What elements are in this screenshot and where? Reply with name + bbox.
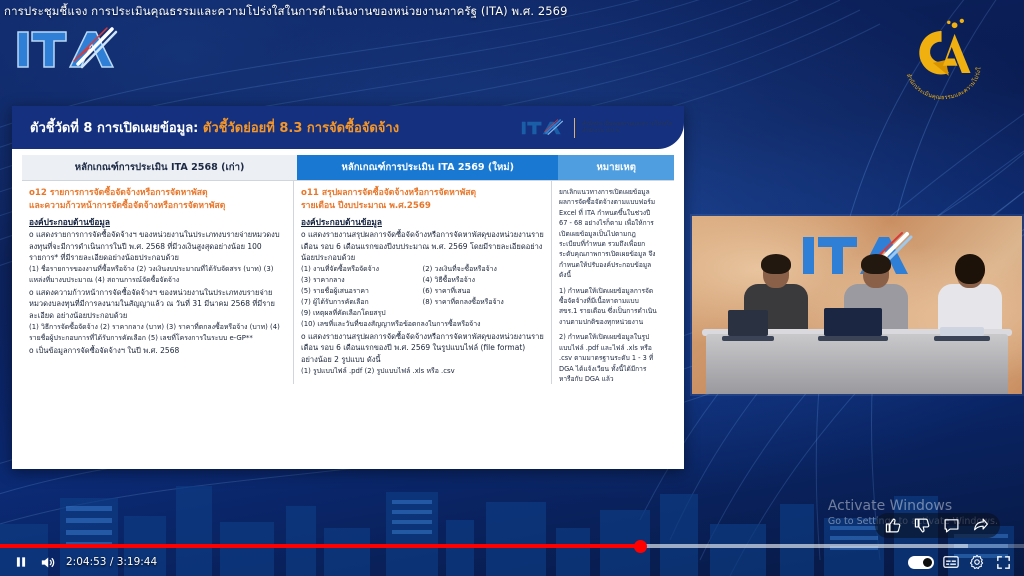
qa-seal-logo: สำนักประเมินคุณธรรมและความโปร่งใส <box>884 18 1002 102</box>
new-file-formats: (1) รูปแบบไฟล์ .pdf (2) รูปแบบไฟล์ .xls … <box>301 366 544 377</box>
list-item: (4) วิธีซื้อหรือจ้าง <box>423 275 545 286</box>
hair <box>955 254 985 284</box>
ita-logo-small <box>521 118 567 138</box>
new-items-left: (1) งานที่จัดซื้อหรือจัดจ้าง (3) ราคากลา… <box>301 264 423 308</box>
video-title: การประชุมชี้แจง การประเมินคุณธรรมและความ… <box>0 5 568 18</box>
volume-on-icon <box>39 554 56 571</box>
logo-subtitle-line1: สำนักประเมินคุณธรรมและความโปร่งใส <box>582 121 672 129</box>
slide-header-text: ตัวชี้วัดที่ 8 การเปิดเผยข้อมูล: ตัวชี้ว… <box>12 117 399 138</box>
hair <box>861 254 891 274</box>
subtitles-icon <box>942 553 960 571</box>
panelist-right <box>938 258 1002 332</box>
column-header-note: หมายเหตุ <box>558 155 674 180</box>
picture-in-picture-video[interactable] <box>692 216 1022 394</box>
logo-subtitle-line2: สำนักงาน ป.ป.ช. <box>582 128 672 136</box>
comparison-table-body: o12 รายการการจัดซื้อจัดจ้างหรือการจัดหาพ… <box>22 180 674 384</box>
column-new-criteria: o11 สรุปผลการจัดซื้อจัดจ้างหรือการจัดหาพ… <box>294 181 552 384</box>
settings-button[interactable] <box>964 549 990 575</box>
pause-button[interactable] <box>8 549 34 575</box>
list-item: (9) เหตุผลที่คัดเลือกโดยสรุป <box>301 308 544 319</box>
list-item: (1) งานที่จัดซื้อหรือจัดจ้าง <box>301 264 423 275</box>
notebook <box>940 327 984 336</box>
ita-logo <box>14 24 124 76</box>
list-item: (8) ราคาที่ตกลงซื้อหรือจ้าง <box>423 297 545 308</box>
note-paragraph-1: ยกเลิกแนวทางการเปิดเผยข้อมูลผลการจัดซื้อ… <box>559 187 657 281</box>
old-paragraph-2: o แสดงความก้าวหน้าการจัดซื้อจัดจ้างฯ ของ… <box>29 287 286 322</box>
old-title-line2: และความก้าวหน้าการจัดซื้อจัดจ้างหรือการจ… <box>29 200 286 213</box>
old-paragraph-3: o เป็นข้อมูลการจัดซื้อจัดจ้างฯ ในปี พ.ศ.… <box>29 345 286 357</box>
list-item: (6) ราคาที่เสนอ <box>423 286 545 297</box>
new-paragraph-1: o แสดงรายงานสรุปผลการจัดซื้อจัดจ้างหรือก… <box>301 229 544 264</box>
note-paragraph-2: 1) กำหนดให้เปิดเผยข้อมูลการจัดซื้อจัดจ้า… <box>559 286 657 328</box>
slide-logo-block: สำนักประเมินคุณธรรมและความโปร่งใส สำนักง… <box>521 118 672 138</box>
autoplay-toggle[interactable] <box>904 549 938 575</box>
slide-header-accent: ตัวชี้วัดย่อยที่ 8.3 การจัดซื้อจัดจ้าง <box>203 121 399 136</box>
video-title-bar: การประชุมชี้แจง การประเมินคุณธรรมและความ… <box>0 0 1024 22</box>
fullscreen-button[interactable] <box>990 549 1016 575</box>
new-title-line1: o11 สรุปผลการจัดซื้อจัดจ้างหรือการจัดหาพ… <box>301 187 544 200</box>
list-item: (2) วงเงินที่จะซื้อหรือจ้าง <box>423 264 545 275</box>
old-list-1: (1) ชื่อรายการของงานที่ซื้อหรือจ้าง (2) … <box>29 264 286 286</box>
comparison-table-header: หลักเกณฑ์การประเมิน ITA 2568 (เก่า) หลัก… <box>22 155 674 180</box>
avatar <box>957 258 983 288</box>
thumbs-down-icon[interactable] <box>914 517 931 534</box>
new-items-grid: (1) งานที่จัดซื้อหรือจัดจ้าง (3) ราคากลา… <box>301 264 544 308</box>
new-items-right: (2) วงเงินที่จะซื้อหรือจ้าง (4) วิธีซื้อ… <box>423 264 545 308</box>
new-section-heading: องค์ประกอบด้านข้อมูล <box>301 216 544 228</box>
logo-divider <box>574 118 575 138</box>
player-controls-bar: 2:04:53 / 3:19:44 <box>0 548 1024 576</box>
column-header-old: หลักเกณฑ์การประเมิน ITA 2568 (เก่า) <box>22 155 297 180</box>
torso <box>938 284 1002 332</box>
column-old-criteria: o12 รายการการจัดซื้อจัดจ้างหรือการจัดหาพ… <box>22 181 294 384</box>
old-section-heading: องค์ประกอบด้านข้อมูล <box>29 216 286 228</box>
pause-icon <box>14 555 28 569</box>
old-paragraph-1: o แสดงรายการการจัดซื้อจัดจ้างฯ ของหน่วยง… <box>29 229 286 264</box>
list-item: (5) รายชื่อผู้เสนอราคา <box>301 286 423 297</box>
toggle-knob <box>923 558 932 567</box>
volume-button[interactable] <box>34 549 60 575</box>
column-header-new: หลักเกณฑ์การประเมิน ITA 2569 (ใหม่) <box>297 155 558 180</box>
fullscreen-icon <box>995 554 1012 571</box>
new-item-10: (10) เลขที่และวันที่ของสัญญาหรือข้อตกลงใ… <box>301 319 544 330</box>
thumbs-up-icon[interactable] <box>885 517 902 534</box>
video-player-stage: การประชุมชี้แจง การประเมินคุณธรรมและความ… <box>0 0 1024 576</box>
time-display: 2:04:53 / 3:19:44 <box>66 556 157 568</box>
presentation-slide: ตัวชี้วัดที่ 8 การเปิดเผยข้อมูล: ตัวชี้ว… <box>12 106 684 469</box>
slide-body: หลักเกณฑ์การประเมิน ITA 2568 (เก่า) หลัก… <box>12 155 684 384</box>
old-title-line1: o12 รายการการจัดซื้อจัดจ้างหรือการจัดหาพ… <box>29 187 286 200</box>
slide-header-main: ตัวชี้วัดที่ 8 การเปิดเผยข้อมูล: <box>30 121 203 136</box>
toggle-track <box>908 556 934 569</box>
avatar <box>763 258 789 288</box>
new-paragraph-2: o แสดงรายงานสรุปผลการจัดซื้อจัดจ้างหรือก… <box>301 331 544 366</box>
subtitles-button[interactable] <box>938 549 964 575</box>
hair <box>761 254 791 274</box>
note-paragraph-3: 2) กำหนดให้เปิดเผยข้อมูลในรูปแบบไฟล์ .pd… <box>559 332 657 384</box>
share-icon[interactable] <box>972 517 990 534</box>
old-list-2: (1) วิธีการจัดซื้อจัดจ้าง (2) ราคากลาง (… <box>29 322 286 344</box>
new-title-line2: รายเดือน ปีงบประมาณ พ.ศ.2569 <box>301 200 544 213</box>
comment-icon[interactable] <box>943 517 960 534</box>
list-item: (7) ผู้ได้รับการคัดเลือก <box>301 297 423 308</box>
list-item: (3) ราคากลาง <box>301 275 423 286</box>
avatar <box>863 258 889 288</box>
tablet-device <box>728 310 768 336</box>
conference-table <box>706 334 1008 394</box>
logo-subtitle: สำนักประเมินคุณธรรมและความโปร่งใส สำนักง… <box>582 121 672 136</box>
laptop-device <box>824 308 882 336</box>
video-actions-bar <box>875 513 1000 538</box>
settings-gear-icon <box>968 553 986 571</box>
column-notes: ยกเลิกแนวทางการเปิดเผยข้อมูลผลการจัดซื้อ… <box>552 181 664 384</box>
